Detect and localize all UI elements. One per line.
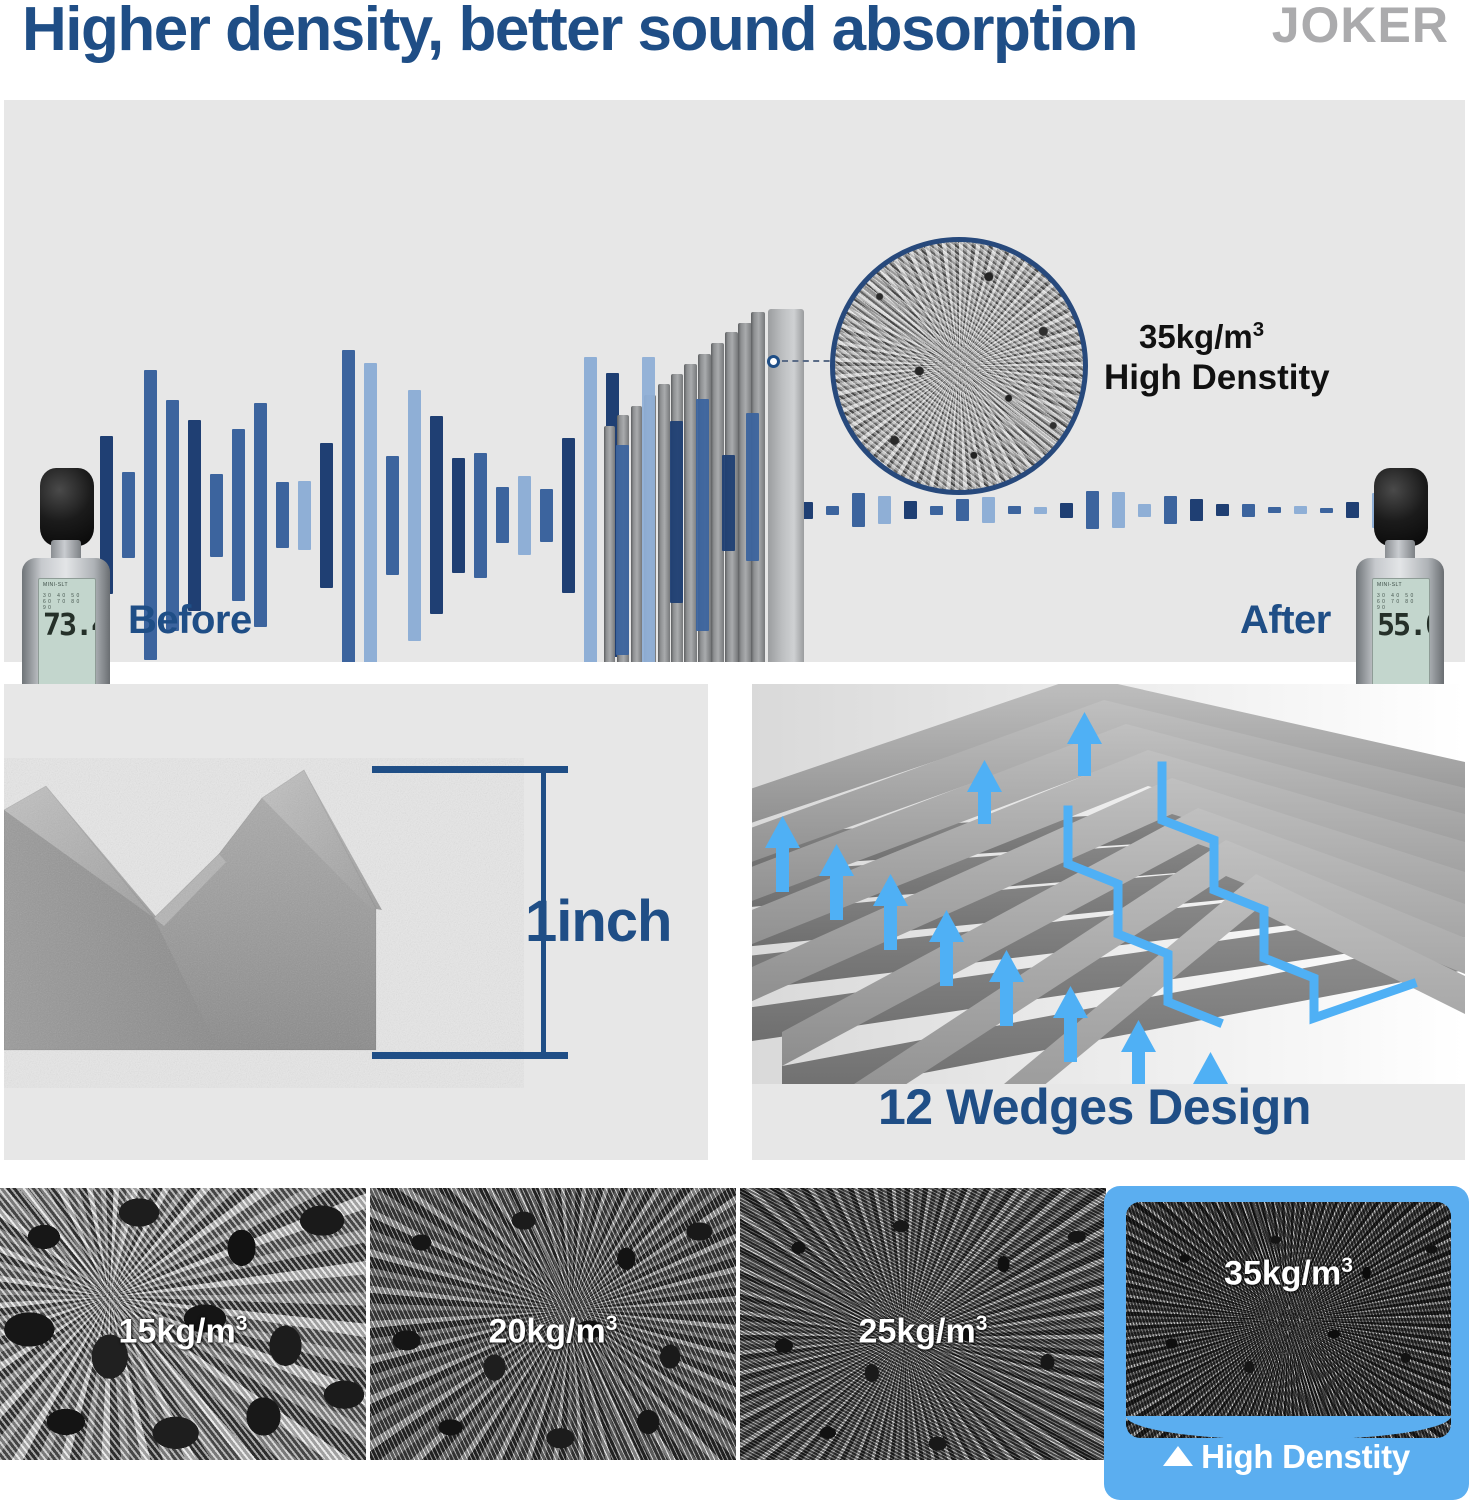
waveform-bar [452, 458, 465, 573]
density-caption: High Denstity [1104, 357, 1434, 398]
waveform-bar [298, 481, 311, 550]
meter-reading-before: 73.4 [43, 611, 95, 641]
waveform-bar [852, 493, 865, 527]
density-value: 35kg/m3 [1139, 318, 1434, 357]
waveform-bar [430, 416, 443, 614]
high-density-caption: High Denstity [1104, 1438, 1469, 1476]
density-callout: 35kg/m3 High Denstity [1104, 318, 1434, 398]
density-cell-label: 35kg/m3 [1126, 1254, 1451, 1293]
waveform-bar [1164, 496, 1177, 524]
waveform-bar [342, 350, 355, 662]
meter-reading-after: 55.0 [1377, 611, 1429, 641]
waveform-bar [1320, 508, 1333, 513]
foam-wedge-panel-perspective [752, 684, 1465, 1084]
density-cell-label: 15kg/m3 [0, 1312, 366, 1351]
density-cell-25: 25kg/m3 [740, 1188, 1106, 1460]
meter-scale: 30 40 50 60 70 80 90 [1377, 593, 1427, 609]
waveform-bar [562, 438, 575, 593]
density-cell-15: 15kg/m3 [0, 1188, 366, 1460]
triangle-up-icon [1163, 1446, 1193, 1466]
waveform-bar [584, 357, 597, 663]
waveform-bar [408, 390, 421, 641]
microphone-icon [40, 468, 94, 546]
wedges-design-title: 12 Wedges Design [878, 1078, 1311, 1136]
waveform-bar [364, 363, 377, 662]
density-cell-35-texture: 35kg/m3 [1126, 1202, 1451, 1438]
waveform-bar [982, 497, 995, 523]
wedge-profile-svg [4, 758, 524, 1088]
infographic-page: Higher density, better sound absorption … [0, 0, 1469, 1500]
before-after-panel: 35kg/m3 High Denstity [4, 100, 1465, 662]
acoustic-foam-panel [604, 295, 804, 662]
waveform-bar-through-foam [696, 399, 709, 631]
waveform-bar [1216, 504, 1229, 516]
waveform-bar [496, 487, 509, 543]
meter-brand: MINI-SLT [43, 582, 68, 588]
waveform-bar [1294, 506, 1307, 514]
foam-rib [631, 406, 643, 662]
foam-rib [604, 426, 615, 662]
waveform-bar-through-foam [670, 421, 683, 603]
page-title: Higher density, better sound absorption [22, 0, 1137, 65]
waveform-bar [122, 472, 135, 558]
waveform-bar [254, 403, 267, 627]
waveform-bar-through-foam [722, 455, 735, 551]
waveform-bar [1034, 507, 1047, 514]
waveform-bar [826, 506, 839, 515]
waveform-bar [930, 506, 943, 515]
thickness-label: 1inch [525, 888, 672, 955]
waveform-bar [518, 476, 531, 555]
density-cell-label: 20kg/m3 [370, 1312, 736, 1351]
waveform-bar-through-foam [746, 413, 759, 561]
meter-screen: MINI-SLT 30 40 50 60 70 80 90 55.0 dB [1372, 578, 1430, 696]
waveform-bar [956, 499, 969, 521]
waveform-bar [904, 501, 917, 519]
waveform-bar-through-foam [642, 357, 655, 662]
meter-scale: 30 40 50 60 70 80 90 [43, 593, 93, 609]
label-before: Before [128, 598, 252, 643]
waveform-bar [1190, 499, 1203, 521]
waveform-bar [276, 482, 289, 548]
callout-anchor-dot [767, 355, 780, 368]
waveform-bar [1268, 507, 1281, 513]
waveform-bar [474, 453, 487, 578]
foam-microstructure-magnifier [830, 237, 1088, 495]
meter-screen: MINI-SLT 30 40 50 60 70 80 90 73.4 dB [38, 578, 96, 696]
waveform-bar [210, 474, 223, 557]
header: Higher density, better sound absorption … [0, 0, 1469, 92]
waveform-bar [232, 429, 245, 601]
foam-wedge-cross-section [4, 758, 524, 1088]
label-after: After [1240, 598, 1331, 643]
microphone-icon [1374, 468, 1428, 546]
waveform-bar [1060, 503, 1073, 518]
waveform-bar [188, 420, 201, 611]
density-cell-label: 25kg/m3 [740, 1312, 1106, 1351]
waveform-bar [540, 489, 553, 542]
waveform-bar [1346, 502, 1359, 518]
waveform-bar [1008, 506, 1021, 514]
dimension-tick-bottom [372, 1052, 568, 1059]
waveform-bar-through-foam [616, 445, 629, 655]
waveform-bar [320, 443, 333, 588]
meter-brand: MINI-SLT [1377, 582, 1402, 588]
waveform-bar [386, 456, 399, 575]
waveform-bar [1112, 492, 1125, 528]
density-cell-20: 20kg/m3 [370, 1188, 736, 1460]
dimension-tick-top [372, 766, 568, 773]
waveform-bar [1086, 491, 1099, 529]
brand-watermark: JOKER [1272, 0, 1449, 54]
foam-rib [658, 384, 670, 662]
waveform-bar [166, 400, 179, 631]
waveform-bar [878, 496, 891, 524]
waveform-bar [1242, 504, 1255, 517]
density-cell-35-highlighted: 35kg/m3 High Denstity [1104, 1186, 1469, 1500]
waveform-bar [1138, 504, 1151, 517]
